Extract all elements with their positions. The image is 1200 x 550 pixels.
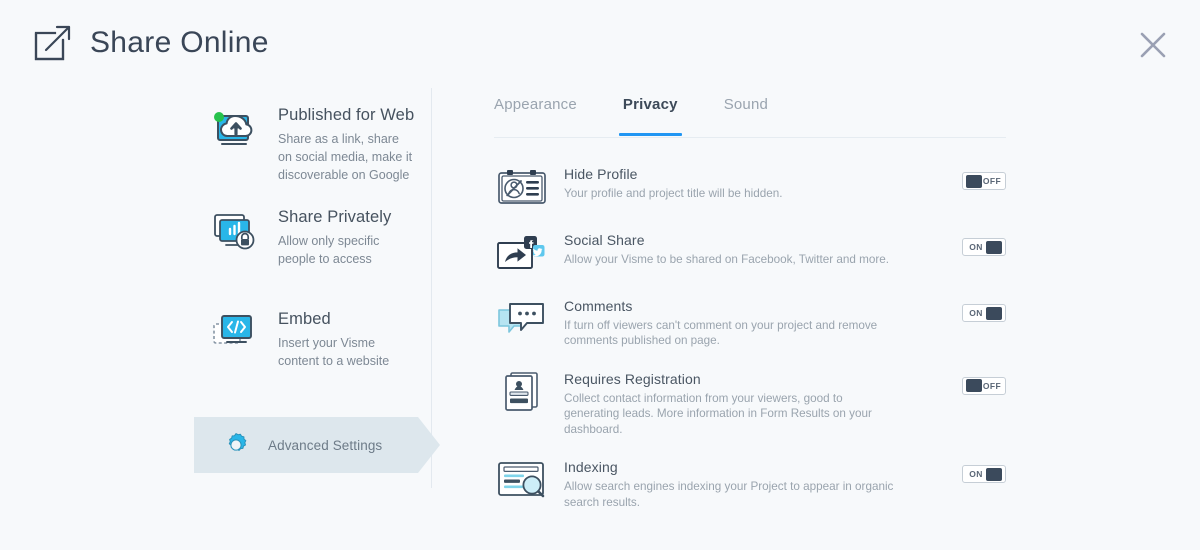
setting-title: Hide Profile (564, 166, 1006, 182)
tab-appearance[interactable]: Appearance (494, 96, 577, 136)
selected-arrow-pointer (418, 417, 440, 473)
sidebar-item-title: Share Privately (278, 208, 413, 227)
external-link-icon (32, 22, 74, 64)
toggle-hide-profile[interactable]: OFF (962, 172, 1006, 190)
toggle-indexing[interactable]: ON (962, 465, 1006, 483)
setting-desc: Allow search engines indexing your Proje… (564, 479, 894, 510)
setting-desc: Your profile and project title will be h… (564, 186, 894, 201)
social-share-icon (494, 230, 550, 276)
gear-icon (222, 431, 250, 459)
toggle-knob (966, 175, 982, 188)
toggle-social-share[interactable]: ON (962, 238, 1006, 256)
tab-privacy[interactable]: Privacy (623, 96, 678, 136)
embed-code-icon (208, 308, 260, 360)
toggle-requires-registration[interactable]: OFF (962, 377, 1006, 395)
sidebar-item-desc: Insert your Visme content to a website (278, 334, 413, 370)
setting-row-comments: Comments If turn off viewers can't comme… (494, 286, 1006, 359)
sidebar-item-desc: Share as a link, share on social media, … (278, 130, 413, 184)
settings-list: Hide Profile Your profile and project ti… (494, 154, 1006, 520)
sidebar-item-share-privately[interactable]: Share Privately Allow only specific peop… (208, 206, 413, 268)
setting-desc: If turn off viewers can't comment on you… (564, 318, 894, 349)
toggle-knob (986, 468, 1002, 481)
sidebar-item-desc: Allow only specific people to access (278, 232, 413, 268)
setting-title: Social Share (564, 232, 1006, 248)
comments-bubble-icon (494, 296, 550, 342)
toggle-label: ON (966, 469, 986, 479)
cloud-upload-screen-icon (208, 104, 260, 156)
settings-panel: Appearance Privacy Sound (494, 96, 1006, 136)
setting-title: Indexing (564, 459, 1006, 475)
setting-row-social-share: Social Share Allow your Visme to be shar… (494, 220, 1006, 286)
toggle-label: ON (966, 242, 986, 252)
setting-title: Comments (564, 298, 1006, 314)
tab-bar-rule (494, 137, 1006, 138)
search-indexing-icon (494, 457, 550, 503)
toggle-knob (986, 307, 1002, 320)
page-title: Share Online (90, 26, 269, 60)
close-icon[interactable] (1134, 26, 1172, 64)
setting-row-requires-registration: Requires Registration Collect contact in… (494, 359, 1006, 447)
setting-row-indexing: Indexing Allow search engines indexing y… (494, 447, 1006, 520)
toggle-label: OFF (982, 381, 1002, 391)
sidebar-item-advanced-settings[interactable]: Advanced Settings (194, 417, 446, 473)
sidebar-item-label: Advanced Settings (268, 438, 382, 453)
tab-bar: Appearance Privacy Sound (494, 96, 1006, 136)
sidebar-item-title: Published for Web (278, 106, 414, 125)
setting-desc: Allow your Visme to be shared on Faceboo… (564, 252, 894, 267)
share-online-dialog: Share Online Published fo (0, 0, 1200, 550)
dialog-header: Share Online (0, 0, 1200, 88)
sidebar-item-title: Embed (278, 310, 413, 329)
hide-profile-badge-icon (494, 164, 550, 210)
setting-title: Requires Registration (564, 371, 1006, 387)
toggle-knob (966, 379, 982, 392)
toggle-label: OFF (982, 176, 1002, 186)
tab-sound[interactable]: Sound (724, 96, 768, 136)
sidebar: Published for Web Share as a link, share… (0, 88, 432, 550)
sidebar-item-embed[interactable]: Embed Insert your Visme content to a web… (208, 308, 413, 370)
header-title-group: Share Online (32, 22, 269, 64)
toggle-label: ON (966, 308, 986, 318)
screen-lock-icon (208, 206, 260, 258)
setting-desc: Collect contact information from your vi… (564, 391, 894, 437)
registration-form-icon (494, 369, 550, 415)
sidebar-item-published-for-web[interactable]: Published for Web Share as a link, share… (208, 104, 414, 184)
toggle-knob (986, 241, 1002, 254)
setting-row-hide-profile: Hide Profile Your profile and project ti… (494, 154, 1006, 220)
toggle-comments[interactable]: ON (962, 304, 1006, 322)
